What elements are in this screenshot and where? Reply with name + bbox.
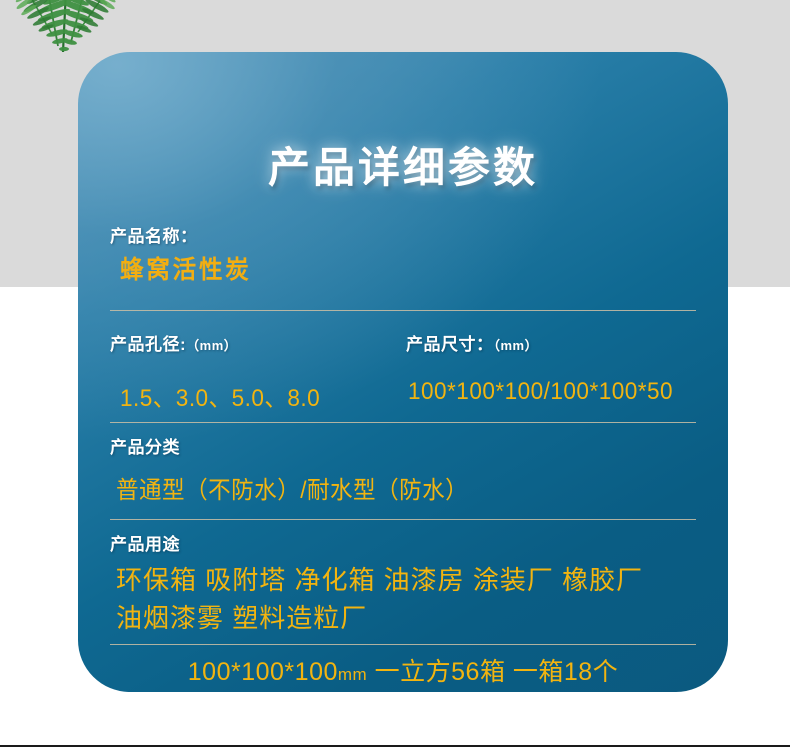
- product-pore-label-text: 产品孔径:: [110, 335, 186, 354]
- product-spec-panel: 产品详细参数 产品名称： 蜂窝活性炭 产品孔径:（mm） 产品尺寸：（mm） 1…: [78, 52, 728, 692]
- divider-4: [110, 644, 696, 645]
- product-pore-unit: （mm）: [186, 338, 237, 353]
- product-size-unit: （mm）: [494, 338, 539, 353]
- product-use-label: 产品用途: [110, 530, 696, 555]
- product-class-label: 产品分类: [110, 433, 696, 458]
- product-class-value: 普通型（不防水）/耐水型（防水）: [116, 470, 667, 505]
- packaging-unit-1: mm: [338, 665, 367, 684]
- product-size-label-text: 产品尺寸：: [406, 335, 494, 354]
- packaging-line-1: 100*100*100mm 一立方56箱 一箱18个: [78, 652, 728, 688]
- product-name-value: 蜂窝活性炭: [120, 250, 671, 286]
- divider-3: [110, 519, 696, 520]
- divider-1: [110, 310, 696, 311]
- product-name-label: 产品名称：: [110, 222, 696, 247]
- product-use-line-1: 环保箱 吸附塔 净化箱 油漆房 涂装厂 橡胶厂: [116, 560, 702, 597]
- packaging-text-1: 一立方56箱 一箱18个: [367, 658, 618, 686]
- page-title: 产品详细参数: [78, 134, 728, 195]
- product-size-label: 产品尺寸：（mm）: [406, 330, 728, 355]
- packaging-size-1: 100*100*100: [188, 658, 338, 686]
- divider-2: [110, 422, 696, 423]
- product-use-line-2: 油烟漆雾 塑料造粒厂: [116, 598, 702, 635]
- product-size-value: 100*100*100/100*100*50: [408, 378, 728, 406]
